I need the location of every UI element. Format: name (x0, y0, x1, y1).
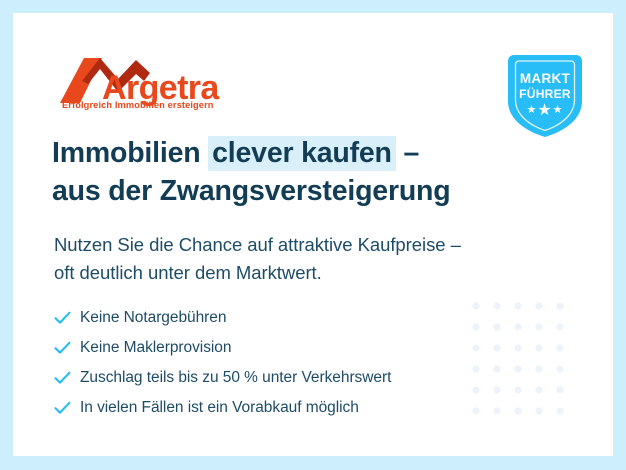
check-icon (54, 371, 80, 385)
headline-highlight: clever kaufen (208, 136, 396, 171)
check-icon-svg (54, 311, 71, 325)
check-icon (54, 401, 80, 415)
subtitle-line-1: Nutzen Sie die Chance auf attraktive Kau… (54, 231, 574, 259)
list-item-label: Zuschlag teils bis zu 50 % unter Verkehr… (80, 369, 391, 387)
star-icon-left: ★ (526, 104, 537, 116)
market-leader-badge: MARKT FÜHRER ★★★ (495, 45, 595, 145)
banner-content-area: Argetra Erfolgreich Immobilien ersteiger… (13, 13, 613, 456)
check-icon (54, 341, 80, 355)
list-item-label: In vielen Fällen ist ein Vorabkauf mögli… (80, 399, 359, 417)
check-icon-svg (54, 341, 71, 355)
headline-text-after: – (396, 137, 419, 169)
subtitle: Nutzen Sie die Chance auf attraktive Kau… (54, 231, 574, 287)
check-icon (54, 311, 80, 325)
advertisement-banner: Argetra Erfolgreich Immobilien ersteiger… (0, 0, 626, 470)
list-item-label: Keine Notargebühren (80, 309, 226, 327)
badge-line-markt: MARKT (495, 71, 595, 86)
page-title: Immobilien clever kaufen – aus der Zwang… (52, 135, 572, 210)
list-item: Keine Notargebühren (54, 303, 524, 333)
star-icon-center: ★ (537, 102, 552, 119)
argetra-logo[interactable]: Argetra Erfolgreich Immobilien ersteiger… (58, 51, 258, 121)
check-icon-svg (54, 401, 71, 415)
headline-text-before: Immobilien (52, 137, 208, 169)
list-item: Zuschlag teils bis zu 50 % unter Verkehr… (54, 363, 524, 393)
list-item-label: Keine Maklerprovision (80, 339, 231, 357)
benefits-list: Keine Notargebühren Keine Maklerprovisio… (54, 303, 524, 423)
star-icon-right: ★ (553, 104, 564, 116)
headline-line-2: aus der Zwangsversteigerung (52, 173, 572, 211)
list-item: Keine Maklerprovision (54, 333, 524, 363)
list-item: In vielen Fällen ist ein Vorabkauf mögli… (54, 393, 524, 423)
badge-line-fuehrer: FÜHRER (495, 87, 595, 101)
logo-tagline: Erfolgreich Immobilien ersteigern (62, 100, 214, 110)
check-icon-svg (54, 371, 71, 385)
headline-line-1: Immobilien clever kaufen – (52, 135, 572, 173)
subtitle-line-2: oft deutlich unter dem Marktwert. (54, 259, 574, 287)
badge-stars-icon: ★★★ (495, 103, 595, 119)
